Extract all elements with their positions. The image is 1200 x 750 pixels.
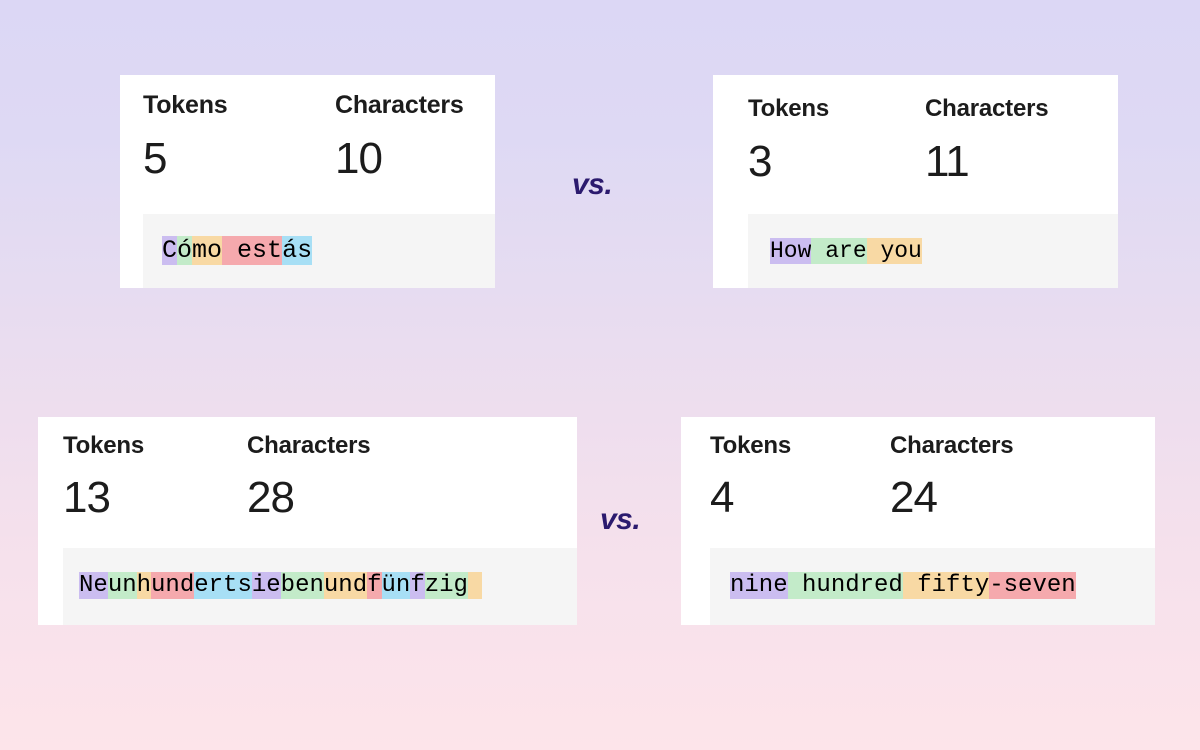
tokenized-text: Neunhundertsiebenundfünfzig <box>79 569 482 603</box>
token-chip: How <box>770 238 811 264</box>
token-chip: Ne <box>79 572 108 599</box>
token-chip: und <box>324 572 367 599</box>
vs-label-bottom: vs. <box>600 505 640 535</box>
token-chip: und <box>151 572 194 599</box>
token-chip: est <box>222 236 282 265</box>
token-card-german: Tokens 13 Characters 28 Neunhundertsiebe… <box>38 417 577 625</box>
characters-label: Characters <box>890 434 1013 458</box>
tokens-value: 3 <box>748 140 925 184</box>
token-chip: mo <box>192 236 222 265</box>
token-chip: f <box>410 572 424 599</box>
vs-label-top: vs. <box>572 170 612 200</box>
token-chip: ün <box>382 572 411 599</box>
token-chip <box>468 572 482 599</box>
characters-value: 28 <box>247 476 370 520</box>
token-card-english-greeting: Tokens 3 Characters 11 How are you <box>713 75 1118 288</box>
stat-characters: Characters 28 <box>247 434 370 520</box>
characters-value: 11 <box>925 140 1048 184</box>
characters-label: Characters <box>247 434 370 458</box>
characters-label: Characters <box>335 93 464 118</box>
token-chip: C <box>162 236 177 265</box>
card-stats: Tokens 3 Characters 11 <box>713 75 1118 184</box>
token-chip: fifty <box>903 572 989 599</box>
token-chip: you <box>867 238 922 264</box>
token-panel: Cómo estás <box>143 214 495 288</box>
tokenized-text: Cómo estás <box>162 233 312 269</box>
token-chip: erts <box>194 572 252 599</box>
stat-characters: Characters 11 <box>925 97 1048 184</box>
tokens-value: 13 <box>63 476 247 520</box>
tokens-value: 4 <box>710 476 890 520</box>
tokens-label: Tokens <box>143 93 335 118</box>
card-stats: Tokens 13 Characters 28 <box>38 417 577 520</box>
token-panel: How are you <box>748 214 1118 288</box>
token-panel: nine hundred fifty-seven <box>710 548 1155 625</box>
characters-label: Characters <box>925 97 1048 121</box>
stat-tokens: Tokens 13 <box>63 434 247 520</box>
token-card-spanish: Tokens 5 Characters 10 Cómo estás <box>120 75 495 288</box>
stat-tokens: Tokens 3 <box>748 97 925 184</box>
token-chip: f <box>367 572 381 599</box>
stat-tokens: Tokens 4 <box>710 434 890 520</box>
token-chip: ben <box>281 572 324 599</box>
token-chip: zig <box>425 572 468 599</box>
tokenized-text: How are you <box>770 235 922 268</box>
card-stats: Tokens 4 Characters 24 <box>681 417 1155 520</box>
tokens-label: Tokens <box>710 434 890 458</box>
tokenized-text: nine hundred fifty-seven <box>730 569 1076 603</box>
characters-value: 10 <box>335 137 464 181</box>
token-chip: -seven <box>989 572 1075 599</box>
token-chip: un <box>108 572 137 599</box>
comparison-stage: Tokens 5 Characters 10 Cómo estás vs. To… <box>0 0 1200 750</box>
tokens-label: Tokens <box>63 434 247 458</box>
stat-tokens: Tokens 5 <box>143 93 335 181</box>
token-chip: h <box>137 572 151 599</box>
tokens-label: Tokens <box>748 97 925 121</box>
token-chip: ó <box>177 236 192 265</box>
token-chip: are <box>811 238 866 264</box>
characters-value: 24 <box>890 476 1013 520</box>
stat-characters: Characters 24 <box>890 434 1013 520</box>
stat-characters: Characters 10 <box>335 93 464 181</box>
token-panel: Neunhundertsiebenundfünfzig <box>63 548 577 625</box>
token-chip: hundred <box>788 572 903 599</box>
card-stats: Tokens 5 Characters 10 <box>120 75 495 181</box>
tokens-value: 5 <box>143 137 335 181</box>
token-chip: nine <box>730 572 788 599</box>
token-chip: ie <box>252 572 281 599</box>
token-chip: ás <box>282 236 312 265</box>
token-card-english-number: Tokens 4 Characters 24 nine hundred fift… <box>681 417 1155 625</box>
